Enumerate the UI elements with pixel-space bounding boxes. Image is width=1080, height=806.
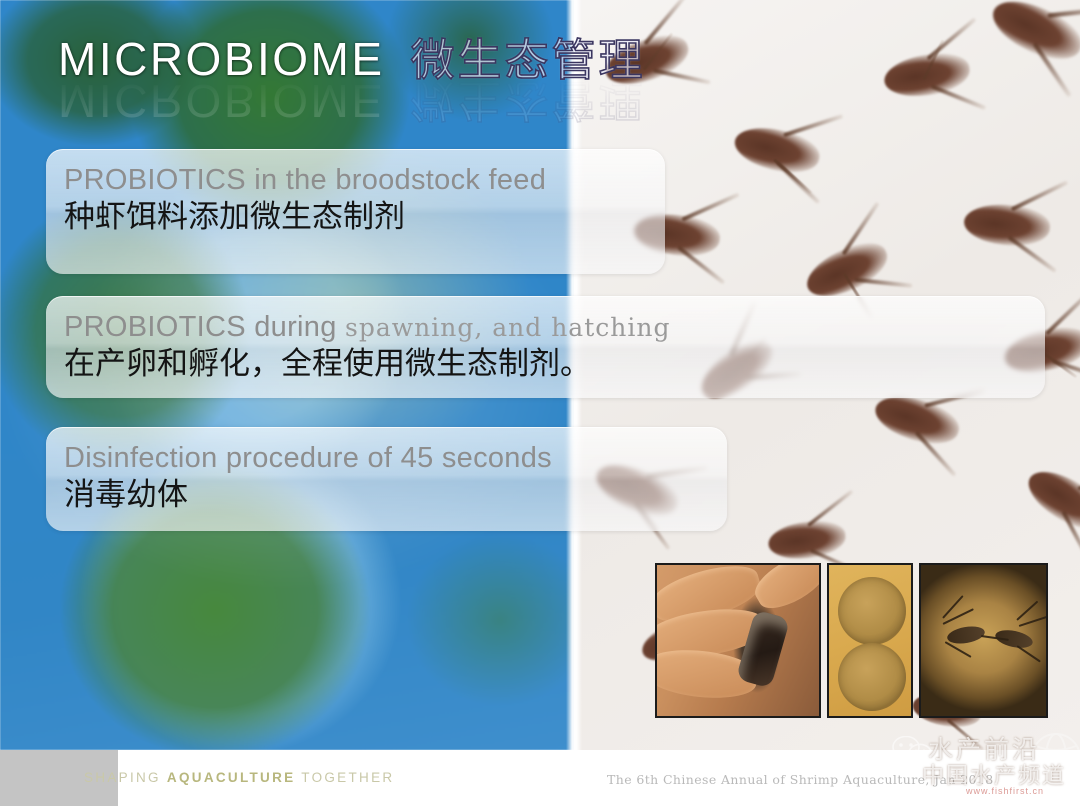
footer-event-credit: The 6th Chinese Annual of Shrimp Aquacul… [607, 772, 994, 787]
title-english: MICROBIOME [58, 32, 385, 86]
egg-lower [838, 643, 906, 711]
tagline-shaping: SHAPING [84, 770, 167, 785]
box3-line-chinese: 消毒幼体 [64, 475, 727, 515]
egg-upper [838, 577, 906, 645]
box1-text-main: PROBIOTICS in the broodstock feed [64, 164, 546, 196]
box2-text-main: PROBIOTICS during [64, 311, 345, 343]
content-box-probiotics-spawning[interactable]: PROBIOTICS during spawning, and hatching… [46, 296, 1045, 398]
slide-footer: SHAPING AQUACULTURE TOGETHER The 6th Chi… [0, 750, 1080, 806]
box2-line-chinese: 在产卵和孵化，全程使用微生态制剂。 [64, 344, 1045, 384]
thumbnail-hands-holding-broodstock-shrimp[interactable] [655, 563, 821, 718]
box3-line-english: Disinfection procedure of 45 seconds [64, 441, 727, 475]
content-box-probiotics-broodstock[interactable]: PROBIOTICS in the broodstock feed 种虾饵料添加… [46, 149, 665, 274]
title-chinese: 微生态管理 [411, 24, 646, 88]
thumbnail-shrimp-nauplii-larvae[interactable] [919, 563, 1048, 718]
box3-text-main: Disinfection procedure of 45 seconds [64, 442, 552, 474]
box1-line-chinese: 种虾饵料添加微生态制剂 [64, 197, 665, 237]
thumbnail-shrimp-eggs-embryos[interactable] [827, 563, 913, 718]
content-box-disinfection[interactable]: Disinfection procedure of 45 seconds 消毒幼… [46, 427, 727, 531]
photo-thumbnail-strip [655, 563, 1048, 718]
slide-title: MICROBIOME 微生态管理 [58, 24, 646, 88]
footer-tagline: SHAPING AQUACULTURE TOGETHER [84, 770, 394, 785]
box1-line-english: PROBIOTICS in the broodstock feed [64, 163, 665, 197]
tagline-aquaculture: AQUACULTURE [167, 770, 296, 785]
box2-text-serif: spawning, and hatching [345, 313, 670, 342]
tagline-together: TOGETHER [295, 770, 394, 785]
box2-line-english: PROBIOTICS during spawning, and hatching [64, 310, 1045, 344]
presentation-slide: MICROBIOME 微生态管理 MICROBIOME 微生态管理 PROBIO… [0, 0, 1080, 806]
